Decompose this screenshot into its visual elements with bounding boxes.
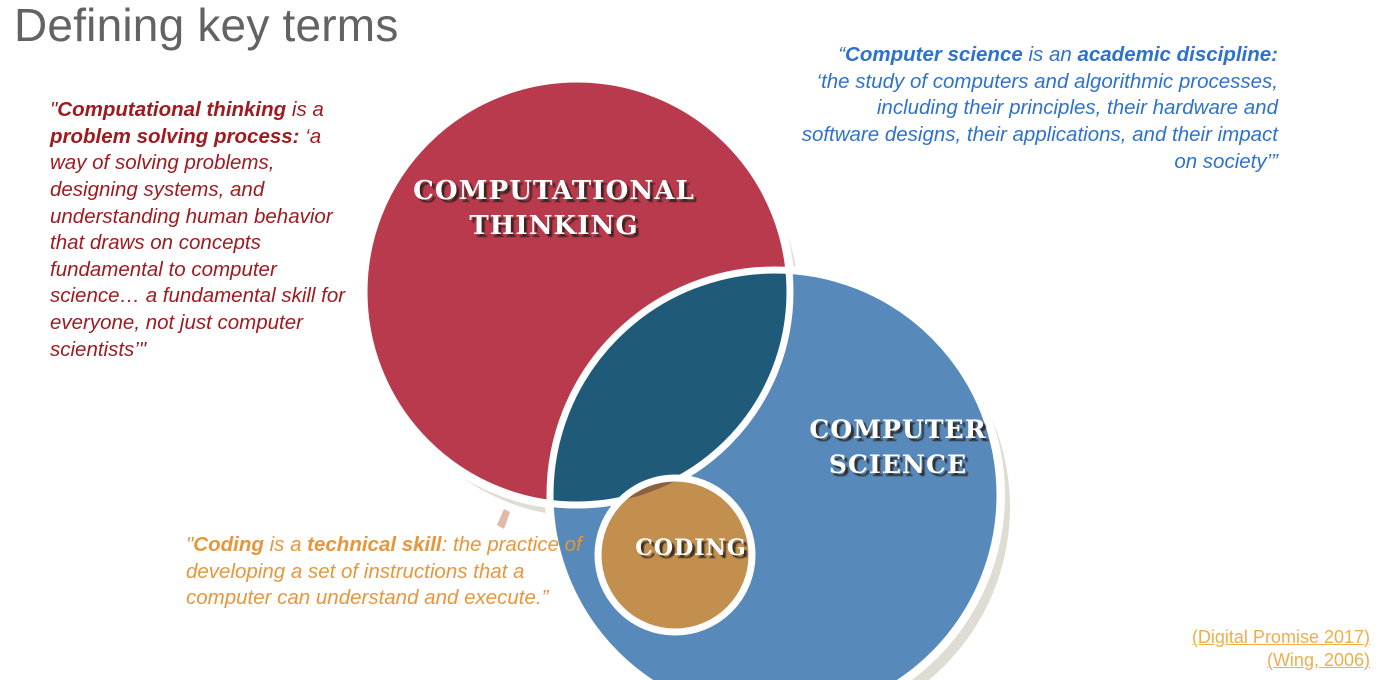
citations: (Digital Promise 2017) (Wing, 2006) — [1192, 626, 1370, 672]
slide-canvas: Defining key terms — [0, 0, 1384, 676]
quote-coding-mid: is a — [264, 533, 307, 556]
label-computer-science-line1: COMPUTER — [809, 415, 986, 444]
quote-cs-open: “ — [838, 43, 845, 66]
label-coding: CODING — [635, 535, 747, 561]
page-title: Defining key terms — [14, 0, 399, 53]
quote-coding: "Coding is a technical skill: the practi… — [186, 532, 606, 612]
quote-ct-body: ‘a way of solving problems, designing sy… — [50, 125, 345, 361]
quote-ct-term: Computational thinking — [57, 98, 286, 121]
citation-link-digital-promise[interactable]: (Digital Promise 2017) — [1192, 626, 1370, 649]
citation-link-wing[interactable]: (Wing, 2006) — [1192, 649, 1370, 672]
quote-cs-mid: is an — [1023, 43, 1078, 66]
label-computer-science-line2: SCIENCE — [829, 450, 967, 479]
quote-cs-body: ‘the study of computers and algorithmic … — [802, 70, 1278, 173]
quote-ct-phrase: problem solving process: — [50, 125, 299, 148]
quote-computer-science: “Computer science is an academic discipl… — [800, 42, 1278, 175]
quote-computational-thinking: "Computational thinking is a problem sol… — [50, 97, 350, 363]
quote-coding-phrase: technical skill — [307, 533, 441, 556]
texture-mark — [497, 509, 510, 529]
label-computational-thinking-line2: THINKING — [469, 211, 638, 241]
label-computational-thinking-line1: COMPUTATIONAL — [413, 176, 695, 206]
quote-cs-term: Computer science — [845, 43, 1023, 66]
quote-coding-term: Coding — [193, 533, 264, 556]
quote-ct-mid: is a — [286, 98, 324, 121]
quote-cs-phrase: academic discipline: — [1077, 43, 1278, 66]
